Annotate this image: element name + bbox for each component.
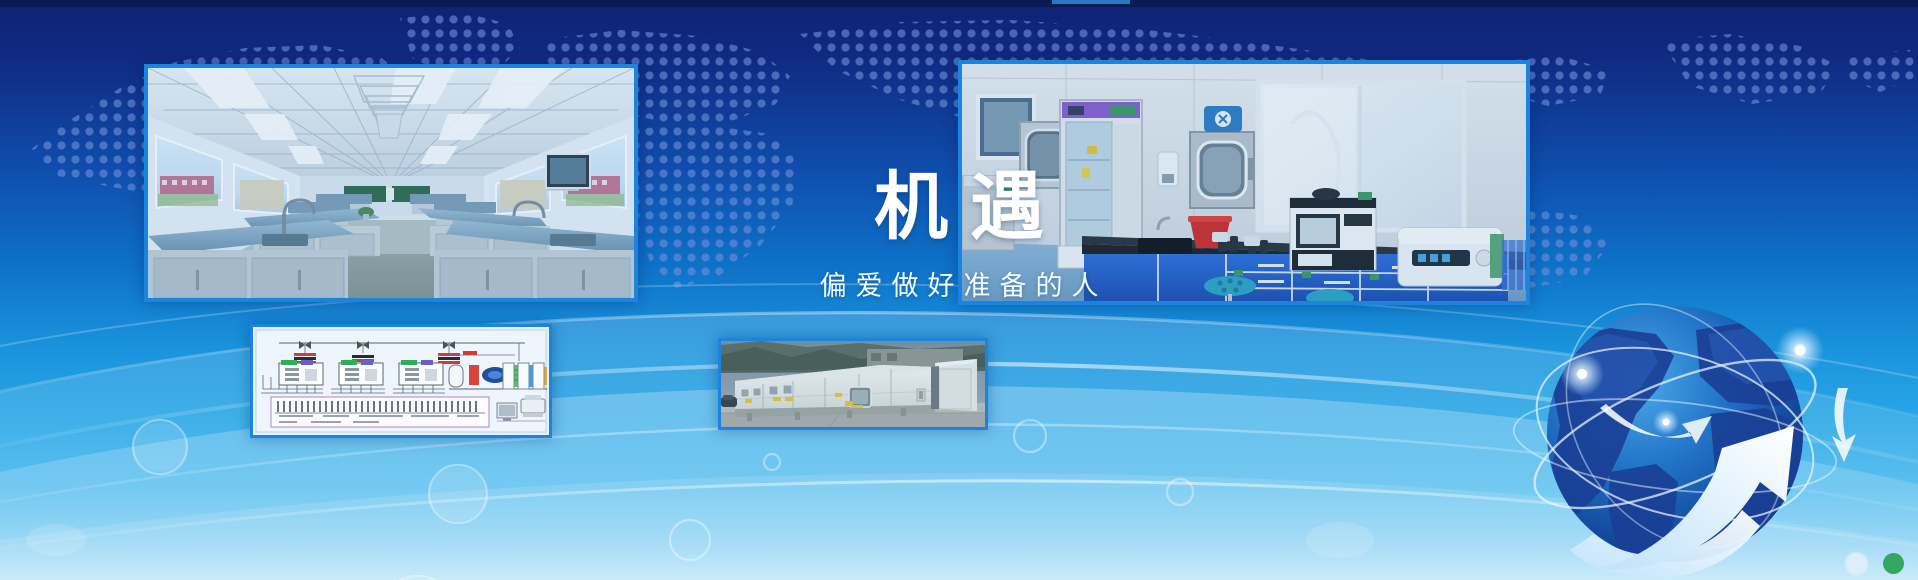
- process-diagram-illustration: [253, 327, 549, 435]
- carousel-dot-1[interactable]: [1846, 553, 1867, 574]
- lab-interior-illustration: [148, 68, 634, 298]
- photo-container-lab[interactable]: [718, 338, 988, 430]
- hero-banner: 机遇 偏爱做好准备的人: [0, 0, 1918, 580]
- banner-text-block: 机遇 偏爱做好准备的人: [640, 168, 1278, 303]
- carousel-dot-2[interactable]: [1883, 553, 1904, 574]
- banner-headline: 机遇: [640, 168, 1278, 246]
- photo-lab-interior[interactable]: [144, 64, 638, 302]
- top-edge-artifact: [0, 0, 1918, 7]
- banner-subheadline: 偏爱做好准备的人: [640, 264, 1278, 303]
- carousel-pagination: [1846, 553, 1904, 574]
- globe-icon: [1460, 276, 1890, 580]
- photo-process-diagram[interactable]: [250, 324, 552, 438]
- container-lab-illustration: [721, 341, 985, 427]
- top-edge-artifact-highlight: [1052, 0, 1130, 4]
